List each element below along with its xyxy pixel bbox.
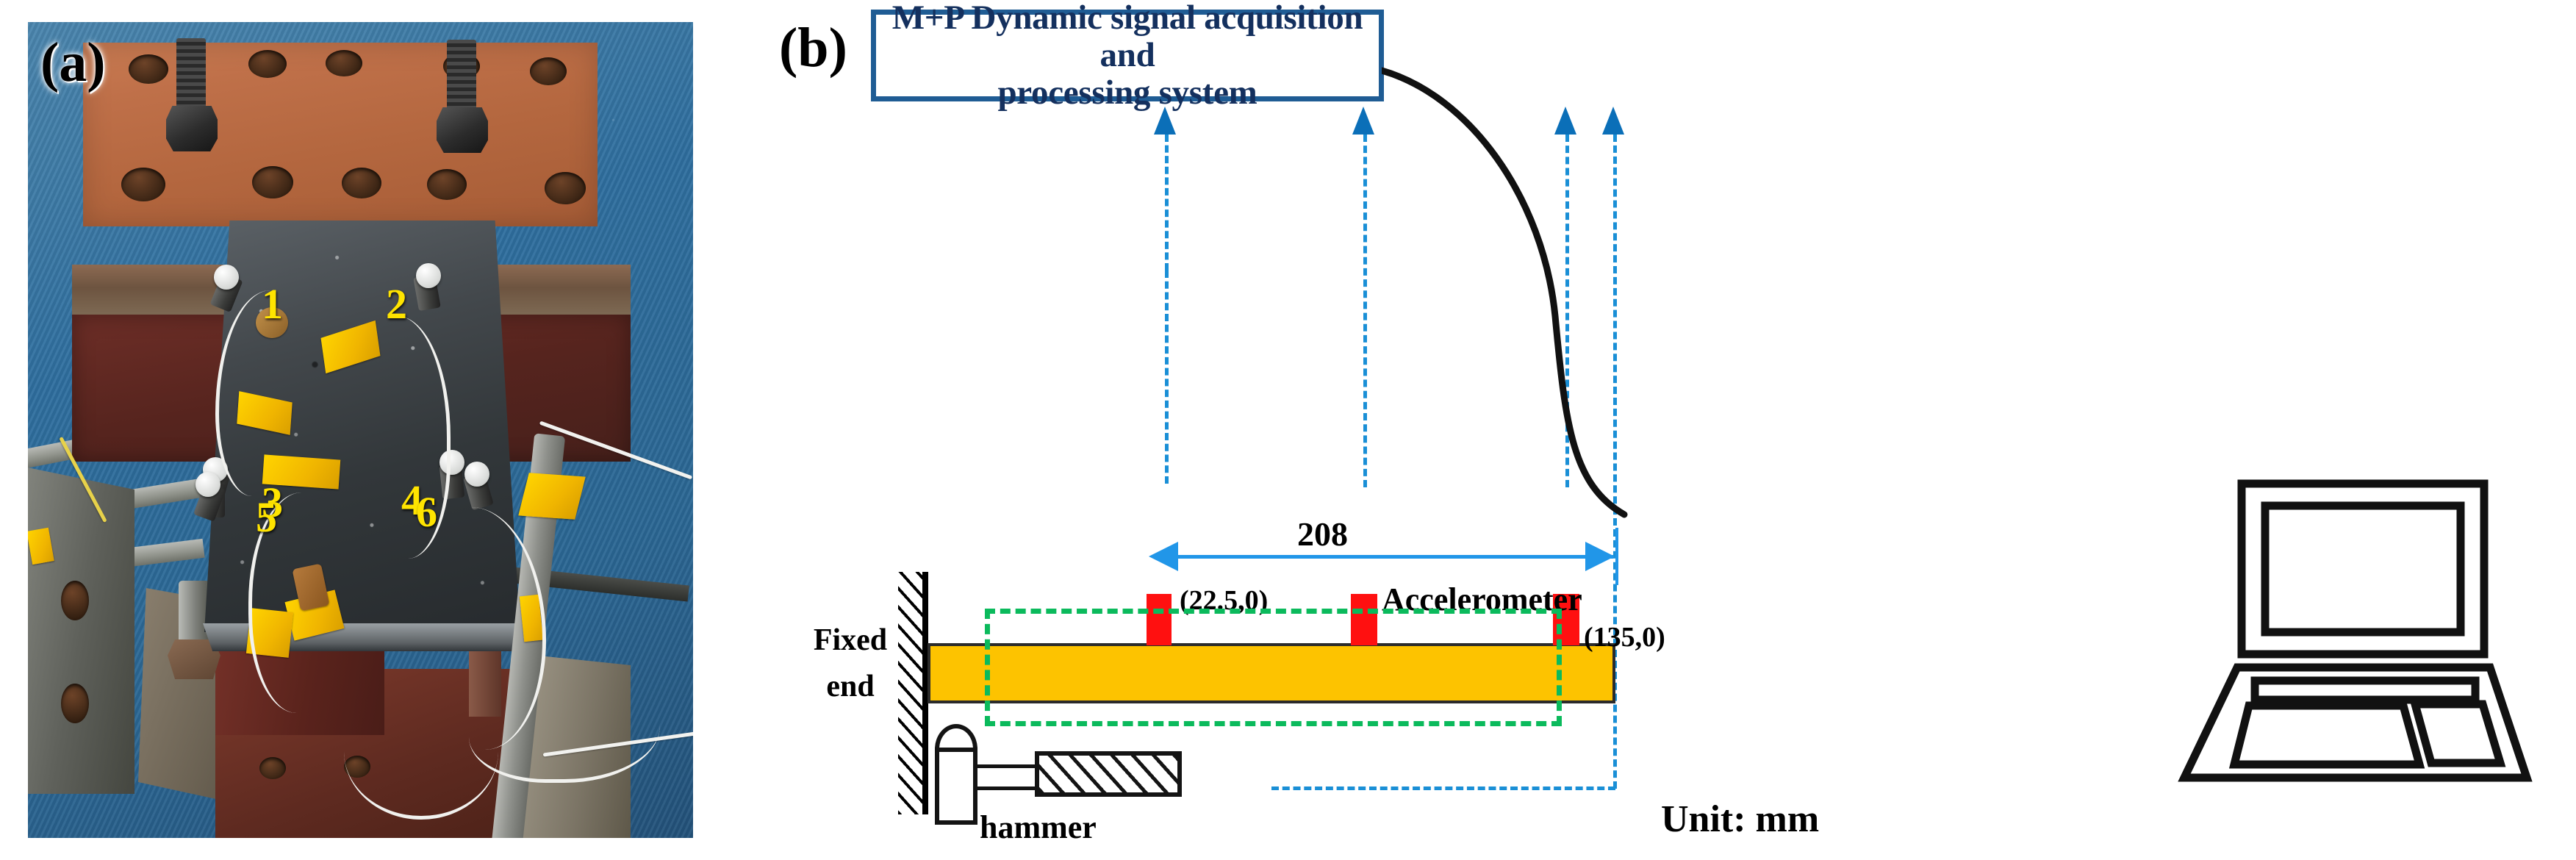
fixture-bracket-left <box>28 463 134 794</box>
laptop-keyboard <box>2234 706 2419 764</box>
bolt-head-icon <box>437 107 488 153</box>
base-hole-3 <box>259 757 286 779</box>
hammer-rod-top <box>976 764 1036 768</box>
hammer-rod-bottom <box>976 786 1036 790</box>
bracket-hole-a <box>61 581 89 620</box>
signal-dash-1 <box>1165 135 1169 270</box>
clamp-plate-hole-row <box>83 43 598 226</box>
clamp-hole-8 <box>342 168 381 198</box>
daq-to-laptop-cable <box>1382 44 2205 544</box>
clamp-hole-10 <box>545 172 586 204</box>
laptop-screen <box>2265 506 2461 632</box>
accel-5-head <box>195 472 220 497</box>
beam-length-dimension-line <box>1154 555 1613 559</box>
panel-a-label: (a) <box>40 31 106 95</box>
unit-note: Unit: mm <box>1661 798 1819 841</box>
clamp-hole-9 <box>427 169 467 200</box>
dimension-arrow-right <box>1585 542 1615 571</box>
daq-system-title: M+P Dynamic signal acquisition and proce… <box>876 0 1379 112</box>
clamp-hole-5 <box>530 57 567 85</box>
accel-1-head <box>214 265 239 290</box>
bolt-head-icon <box>166 106 218 151</box>
hex-bolt-left <box>166 38 218 148</box>
dimension-arrow-left <box>1149 542 1178 571</box>
daq-system-box: M+P Dynamic signal acquisition and proce… <box>871 10 1384 101</box>
hammer-body <box>935 748 977 825</box>
fixed-end-label-line-1: Fixed <box>814 623 887 657</box>
damage-region-box <box>985 609 1562 726</box>
panel-a-photograph: 1 2 3 4 5 6 (a) <box>0 0 735 860</box>
coordinate-label-135: (135,0) <box>1584 621 1665 653</box>
experimental-setup-photo: 1 2 3 4 5 6 <box>28 22 693 838</box>
accel-2-head <box>416 263 441 288</box>
hatch-pattern <box>898 572 923 814</box>
clamp-hole-6 <box>121 168 165 201</box>
signal-arrow-1 <box>1154 107 1176 135</box>
hammer-signal-dash-horizontal <box>1271 786 1615 790</box>
fixed-end-label: Fixed end <box>803 617 898 710</box>
signal-dash-1b <box>1165 270 1169 484</box>
top-clamp-plate <box>83 43 598 226</box>
panel-b-schematic: (b) M+P Dynamic signal acquisition and p… <box>735 0 2576 860</box>
fixed-end-label-line-2: end <box>826 670 874 703</box>
laptop-touchpad <box>2415 704 2500 763</box>
bolt-shank-icon <box>447 40 476 113</box>
sensor-marker-1: 1 <box>262 283 283 326</box>
beam-length-value: 208 <box>1297 515 1348 553</box>
clamp-hole-1 <box>129 54 168 84</box>
laptop-computer-icon <box>2161 470 2543 794</box>
bracket-hole-b <box>61 684 89 723</box>
hammer-handle <box>1035 751 1182 797</box>
sensor-marker-5: 5 <box>256 496 277 539</box>
tape-flag-4 <box>518 473 585 520</box>
sensor-marker-6: 6 <box>416 491 437 534</box>
accel-6-head <box>464 462 489 487</box>
laptop-hinge-strip <box>2255 681 2475 700</box>
signal-arrow-2 <box>1352 107 1374 135</box>
signal-dash-2 <box>1363 135 1367 487</box>
sensor-marker-2: 2 <box>386 283 407 326</box>
panel-b-label: (b) <box>779 16 847 80</box>
fixed-end-hatching <box>898 572 923 814</box>
daq-title-line-1: M+P Dynamic signal acquisition and <box>892 0 1363 74</box>
cable-6 <box>469 669 660 783</box>
clamp-hole-2 <box>248 50 287 78</box>
hammer-label: hammer <box>980 809 1097 846</box>
hex-bolt-right <box>437 40 488 150</box>
clamp-hole-3 <box>326 50 362 76</box>
clamp-hole-7 <box>252 166 293 198</box>
bolt-shank-icon <box>176 38 206 112</box>
cable-path <box>1382 71 1624 515</box>
daq-title-line-2: processing system <box>997 74 1257 112</box>
hammer-tip-icon <box>935 724 977 749</box>
